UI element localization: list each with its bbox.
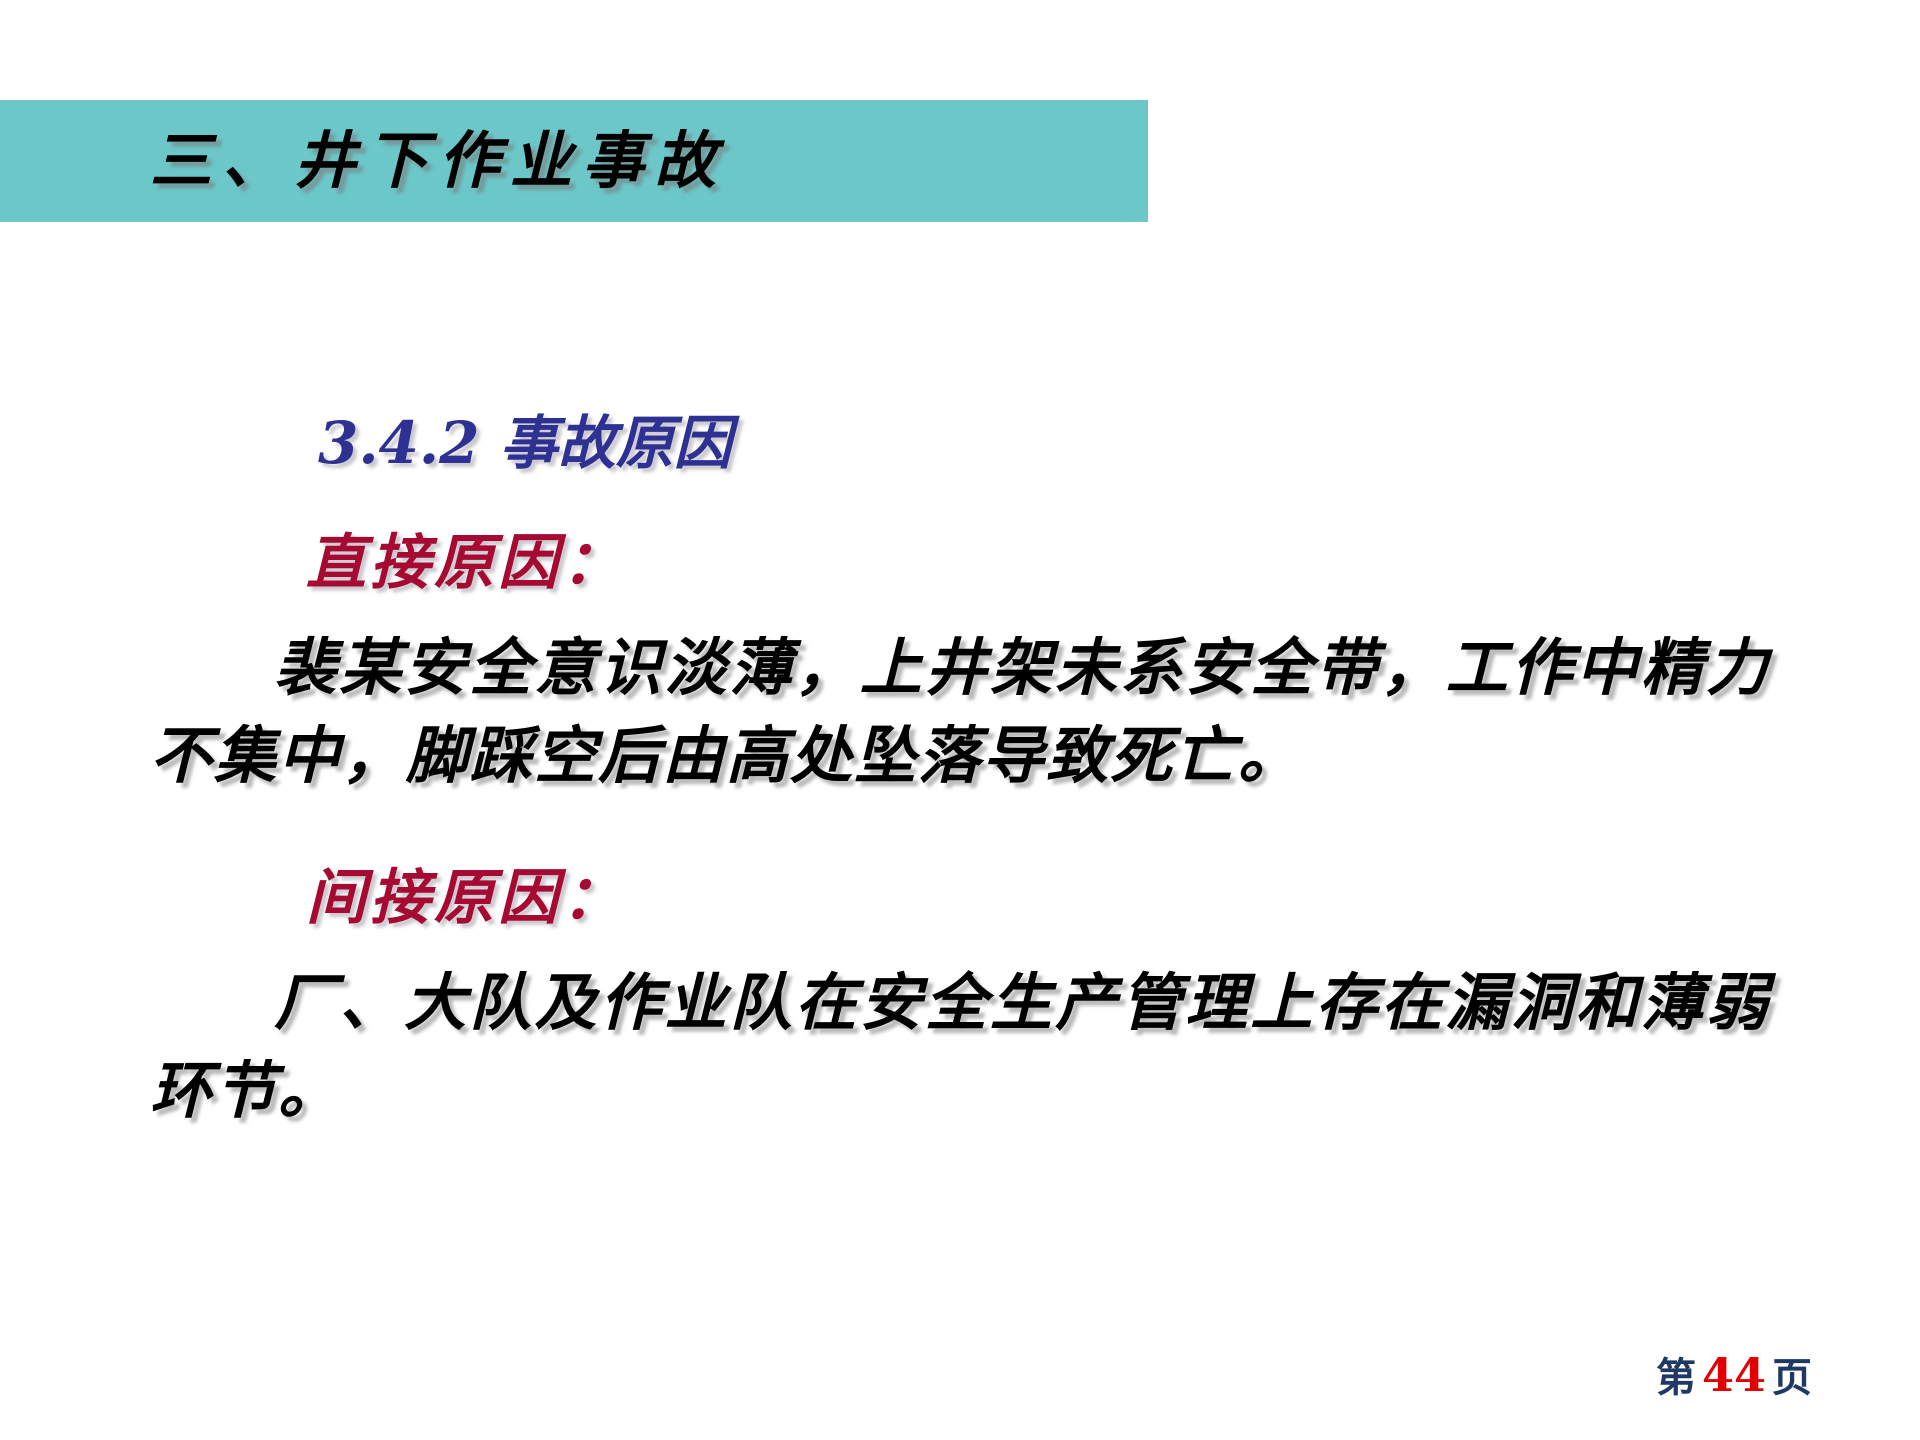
- direct-cause-label: 直接原因：: [306, 529, 1920, 598]
- direct-cause-text: 裴某安全意识淡薄，上井架未系安全带，工作中精力不集中，脚踩空后由高处坠落导致死亡…: [150, 624, 1770, 800]
- footer-page-number: 44: [1696, 1348, 1772, 1402]
- indirect-cause-text: 厂、大队及作业队在安全生产管理上存在漏洞和薄弱环节。: [150, 959, 1770, 1135]
- slide-content: 3.4.2 事故原因 直接原因： 裴某安全意识淡薄，上井架未系安全带，工作中精力…: [0, 410, 1920, 1135]
- page-footer: 第44页: [1656, 1352, 1812, 1398]
- title-banner: 三、井下作业事故: [0, 100, 1148, 222]
- spacer: [0, 830, 1920, 864]
- section-heading: 3.4.2 事故原因: [318, 410, 1920, 477]
- indirect-cause-label: 间接原因：: [306, 864, 1920, 933]
- footer-suffix: 页: [1772, 1354, 1812, 1401]
- footer-prefix: 第: [1656, 1354, 1696, 1401]
- slide: 三、井下作业事故 3.4.2 事故原因 直接原因： 裴某安全意识淡薄，上井架未系…: [0, 0, 1920, 1440]
- slide-title: 三、井下作业事故: [150, 130, 726, 192]
